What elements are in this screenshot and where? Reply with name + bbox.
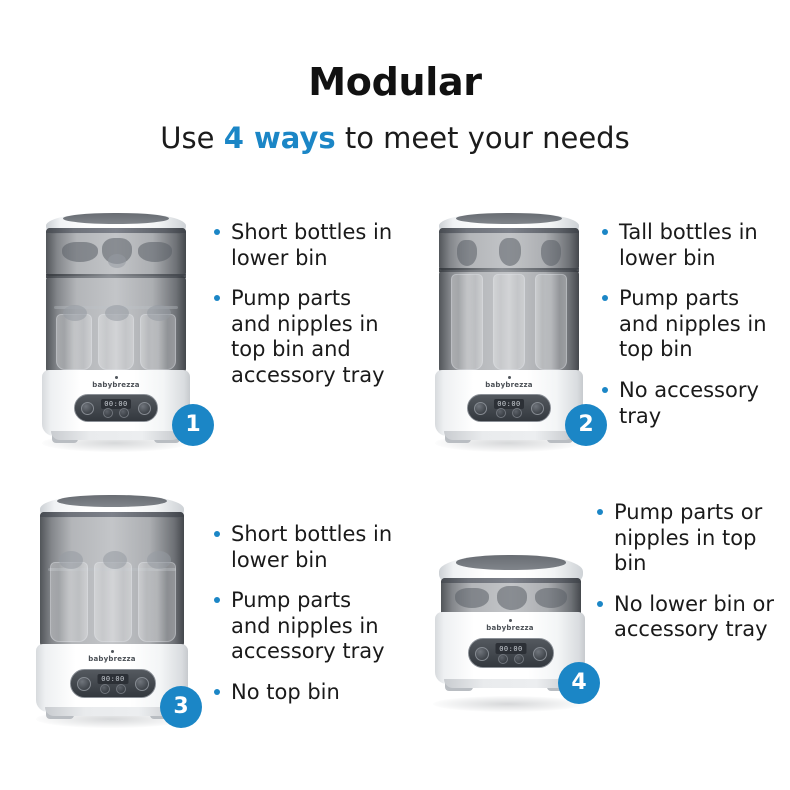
subtitle-text-before: Use — [160, 121, 223, 155]
brand-dot — [508, 376, 511, 379]
step-badge-1: 1 — [172, 404, 214, 446]
top-bin-rim — [441, 578, 581, 583]
tall-bottle — [493, 274, 525, 370]
list-item: Pump parts or nipples in top bin — [595, 500, 778, 577]
list-item: Short bottles in lower bin — [212, 522, 395, 573]
list-item-label: No lower bin or accessory tray — [614, 592, 774, 642]
bullet-dot-icon — [214, 295, 220, 301]
bullet-dot-icon — [214, 531, 220, 537]
option-button[interactable] — [498, 654, 508, 664]
control-panel-face: 00:00 — [71, 670, 155, 697]
control-panel[interactable]: 00:00 — [70, 669, 156, 698]
tall-bottle — [535, 274, 567, 370]
config-panel-3: babybrezza 00:00 3 — [0, 478, 395, 768]
bottle-nipple — [63, 305, 87, 321]
lcd-display: 00:00 — [496, 643, 527, 654]
mode-knob[interactable] — [533, 647, 547, 661]
list-item-label: Tall bottles in lower bin — [619, 220, 758, 270]
lid-top-surface — [456, 213, 562, 224]
list-item: Short bottles in lower bin — [212, 220, 395, 271]
bullet-dot-icon — [214, 229, 220, 235]
feature-list-3: Short bottles in lower bin Pump parts an… — [212, 522, 395, 706]
bullet-dot-icon — [602, 295, 608, 301]
feature-list-2: Tall bottles in lower bin Pump parts and… — [600, 220, 783, 429]
foot — [46, 711, 74, 719]
brand-wordmark: babybrezza — [435, 381, 583, 389]
header: Modular Use 4 ways to meet your needs — [0, 62, 790, 155]
feature-list-1: Short bottles in lower bin Pump parts an… — [212, 220, 395, 389]
bottle — [50, 562, 88, 642]
control-panel-face: 00:00 — [469, 639, 553, 667]
product-shadow — [433, 696, 583, 712]
power-knob[interactable] — [475, 647, 489, 661]
tall-bottle — [451, 274, 483, 370]
list-item: No lower bin or accessory tray — [595, 592, 778, 643]
list-item-label: Short bottles in lower bin — [231, 522, 392, 572]
top-bin-rim — [439, 228, 579, 233]
list-item: Tall bottles in lower bin — [600, 220, 783, 271]
start-button[interactable] — [119, 408, 129, 418]
bottle — [98, 314, 134, 370]
brand-wordmark: babybrezza — [36, 655, 188, 663]
control-panel-face: 00:00 — [75, 395, 157, 421]
brand-wordmark: babybrezza — [435, 624, 585, 632]
mode-knob[interactable] — [135, 677, 149, 691]
option-button[interactable] — [103, 408, 113, 418]
bottle-nipple — [147, 551, 171, 569]
bullet-dot-icon — [214, 689, 220, 695]
list-item-label: No top bin — [231, 680, 340, 704]
start-button[interactable] — [514, 654, 524, 664]
step-badge-4: 4 — [558, 662, 600, 704]
power-knob[interactable] — [81, 402, 94, 415]
bullet-dot-icon — [602, 387, 608, 393]
top-bin — [441, 578, 581, 616]
bullet-dot-icon — [597, 509, 603, 515]
step-badge-2: 2 — [565, 404, 607, 446]
pump-part-shape — [499, 238, 521, 266]
top-bin-rim — [46, 228, 186, 233]
subtitle-highlight: 4 ways — [224, 121, 336, 155]
bottle — [138, 562, 176, 642]
config-panel-2: babybrezza 00:00 2 — [395, 188, 790, 478]
list-item-label: Pump parts and nipples in accessory tray — [231, 588, 385, 663]
step-badge-3: 3 — [160, 686, 202, 728]
nipple-shape — [457, 240, 477, 266]
power-knob[interactable] — [77, 677, 91, 691]
brand-wordmark: babybrezza — [42, 381, 190, 389]
mode-knob[interactable] — [138, 402, 151, 415]
control-panel-face: 00:00 — [468, 395, 550, 421]
list-item: Pump parts and nipples in top bin and ac… — [212, 286, 395, 388]
bottle-nipple — [105, 305, 129, 321]
config-panel-1: babybrezza 00:00 1 — [0, 188, 395, 478]
lid-top-surface — [63, 213, 169, 224]
configuration-grid: babybrezza 00:00 1 — [0, 188, 790, 768]
pump-part-shape — [455, 588, 489, 608]
bottle — [56, 314, 92, 370]
brand-dot — [111, 650, 114, 653]
list-item-label: Pump parts and nipples in top bin and ac… — [231, 286, 385, 387]
control-panel[interactable]: 00:00 — [74, 394, 158, 422]
bottle-nipple — [147, 305, 171, 321]
foot — [445, 683, 473, 691]
product-image-4: babybrezza 00:00 — [417, 478, 617, 768]
bottle-nipple — [59, 551, 83, 569]
top-bin — [439, 228, 579, 270]
brand-dot — [115, 376, 118, 379]
brand-dot — [509, 619, 512, 622]
lower-bin-rim — [40, 512, 184, 517]
list-item: No accessory tray — [600, 378, 783, 429]
list-item-label: Short bottles in lower bin — [231, 220, 392, 270]
nipple-shape — [541, 240, 561, 266]
feature-list-4: Pump parts or nipples in top bin No lowe… — [595, 500, 778, 643]
option-button[interactable] — [100, 684, 110, 694]
lid-top-surface — [57, 495, 166, 507]
control-panel[interactable]: 00:00 — [467, 394, 551, 422]
list-item-label: Pump parts and nipples in top bin — [619, 286, 767, 361]
page-title: Modular — [0, 62, 790, 104]
bottle-nipple — [103, 551, 127, 569]
lid-top-surface — [456, 555, 565, 570]
lower-bin — [46, 276, 186, 372]
lcd-display: 00:00 — [98, 674, 129, 684]
config-panel-4: babybrezza 00:00 4 — [395, 478, 790, 768]
nipple-shape — [535, 588, 567, 608]
top-bin — [46, 228, 186, 276]
lower-bin — [40, 512, 184, 646]
pump-part-shape — [497, 586, 527, 610]
subtitle-text-after: to meet your needs — [336, 121, 630, 155]
list-item: Pump parts and nipples in accessory tray — [212, 588, 395, 665]
option-button[interactable] — [496, 408, 506, 418]
bullet-dot-icon — [597, 601, 603, 607]
start-button[interactable] — [512, 408, 522, 418]
lower-bin — [439, 270, 579, 372]
bottle — [140, 314, 176, 370]
control-panel[interactable]: 00:00 — [468, 638, 554, 668]
bottle — [94, 562, 132, 642]
nipple-shape — [108, 254, 126, 268]
mode-knob[interactable] — [531, 402, 544, 415]
list-item-label: Pump parts or nipples in top bin — [614, 500, 762, 575]
base-housing: babybrezza 00:00 — [42, 370, 190, 436]
base-housing: babybrezza 00:00 — [435, 370, 583, 436]
bullet-dot-icon — [214, 597, 220, 603]
pump-part-shape — [138, 242, 172, 262]
list-item: Pump parts and nipples in top bin — [600, 286, 783, 363]
pump-part-shape — [62, 242, 98, 262]
list-item: No top bin — [212, 680, 395, 706]
power-knob[interactable] — [474, 402, 487, 415]
infographic-page: Modular Use 4 ways to meet your needs — [0, 0, 790, 790]
foot — [445, 435, 471, 443]
page-subtitle: Use 4 ways to meet your needs — [0, 122, 790, 155]
foot — [52, 435, 78, 443]
bullet-dot-icon — [602, 229, 608, 235]
start-button[interactable] — [116, 684, 126, 694]
list-item-label: No accessory tray — [619, 378, 759, 428]
